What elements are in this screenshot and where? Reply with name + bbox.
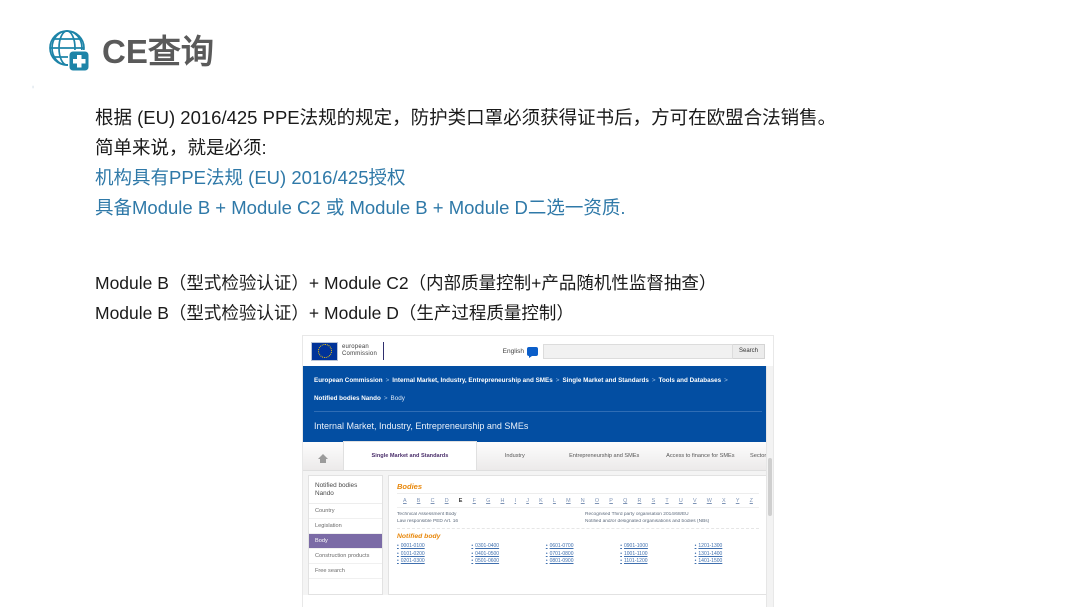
alpha-x[interactable]: X bbox=[722, 498, 726, 504]
alpha-f[interactable]: F bbox=[473, 498, 476, 504]
sidebar-item-construction-products[interactable]: Construction products bbox=[309, 549, 382, 564]
brand-logo: CE查询 bbox=[44, 25, 214, 77]
module-line-2: Module B（型式检验认证）+ Module D（生产过程质量控制） bbox=[95, 298, 1025, 328]
info-row: Technical Assessment Body Law responsibl… bbox=[397, 512, 759, 529]
nb-link[interactable]: 0401-0500 bbox=[471, 551, 535, 559]
alpha-s[interactable]: S bbox=[652, 498, 656, 504]
paragraph-line-2: 简单来说，就是必须: bbox=[95, 133, 1025, 163]
ec-site-header: european Commission English Search bbox=[303, 336, 773, 366]
alpha-c[interactable]: C bbox=[431, 498, 435, 504]
nb-column-2: 0601-0700 0701-0800 0801-0900 bbox=[546, 543, 610, 566]
header-divider bbox=[383, 342, 384, 360]
alphabet-index: A B C D E F G H I J K L M N O P Q R S T bbox=[397, 494, 759, 508]
nb-column-0: 0001-0100 0101-0200 0201-0300 bbox=[397, 543, 461, 566]
embedded-website-screenshot: european Commission English Search Europ… bbox=[303, 336, 773, 607]
alpha-n[interactable]: N bbox=[581, 498, 585, 504]
breadcrumb-item-2[interactable]: Single Market and Standards bbox=[562, 377, 648, 384]
breadcrumb-rule bbox=[314, 411, 762, 412]
tab-industry[interactable]: Industry bbox=[476, 442, 554, 470]
nb-column-1: 0301-0400 0401-0500 0501-0600 bbox=[471, 543, 535, 566]
nb-link[interactable]: 1001-1100 bbox=[620, 551, 684, 559]
sidebar-item-legislation[interactable]: Legislation bbox=[309, 519, 382, 534]
ec-main-panel: Bodies A B C D E F G H I J K L M N O P Q… bbox=[388, 475, 768, 595]
search-button[interactable]: Search bbox=[733, 344, 765, 359]
globe-cross-icon bbox=[44, 25, 96, 77]
nb-link[interactable]: 0001-0100 bbox=[397, 543, 461, 551]
sidebar-item-body[interactable]: Body bbox=[309, 534, 382, 549]
tab-home[interactable] bbox=[303, 442, 344, 470]
alpha-d[interactable]: D bbox=[445, 498, 449, 504]
nb-link[interactable]: 0901-1000 bbox=[620, 543, 684, 551]
breadcrumb-nando[interactable]: Notified bodies Nando bbox=[314, 395, 381, 402]
alpha-o[interactable]: O bbox=[595, 498, 599, 504]
paragraph-line-1: 根据 (EU) 2016/425 PPE法规的规定，防护类口罩必须获得证书后，方… bbox=[95, 103, 1025, 133]
nb-link[interactable]: 1401-1500 bbox=[695, 558, 759, 566]
alpha-u[interactable]: U bbox=[679, 498, 683, 504]
alpha-l[interactable]: L bbox=[553, 498, 556, 504]
alpha-h[interactable]: H bbox=[500, 498, 504, 504]
nb-link[interactable]: 1201-1300 bbox=[695, 543, 759, 551]
page-scrollbar[interactable] bbox=[766, 366, 773, 607]
nb-column-3: 0901-1000 1001-1100 1101-1200 bbox=[620, 543, 684, 566]
alpha-p[interactable]: P bbox=[609, 498, 613, 504]
ec-sidebar: Notified bodies Nando Country Legislatio… bbox=[308, 475, 383, 595]
info-col-right: Recognised Third party organisation 2014… bbox=[585, 512, 759, 525]
section-title-bodies: Bodies bbox=[397, 482, 759, 494]
breadcrumb-item-1[interactable]: Internal Market, Industry, Entrepreneurs… bbox=[392, 377, 553, 384]
ec-content-area: Notified bodies Nando Country Legislatio… bbox=[303, 471, 773, 595]
breadcrumb-second-line: Notified bodies Nando>Body bbox=[314, 393, 762, 404]
language-label[interactable]: English bbox=[503, 348, 524, 355]
tab-access-to-finance-for-smes[interactable]: Access to finance for SMEs bbox=[655, 442, 746, 470]
module-combination-list: Module B（型式检验认证）+ Module C2（内部质量控制+产品随机性… bbox=[95, 268, 1025, 328]
info-left-line-2[interactable]: Law responsible PED Art. 16 bbox=[397, 519, 571, 526]
alpha-g[interactable]: G bbox=[486, 498, 490, 504]
paragraph-line-3: 机构具有PPE法规 (EU) 2016/425授权 bbox=[95, 163, 1025, 193]
eu-flag-icon bbox=[311, 342, 338, 361]
sidebar-item-free-search[interactable]: Free search bbox=[309, 564, 382, 579]
brand-name: CE查询 bbox=[102, 35, 214, 68]
breadcrumb-item-3[interactable]: Tools and Databases bbox=[659, 377, 722, 384]
sidebar-item-country[interactable]: Country bbox=[309, 504, 382, 519]
breadcrumb-body[interactable]: Body bbox=[391, 395, 405, 402]
nb-link[interactable]: 0601-0700 bbox=[546, 543, 610, 551]
nb-link[interactable]: 0101-0200 bbox=[397, 551, 461, 559]
alpha-k[interactable]: K bbox=[539, 498, 543, 504]
nb-link[interactable]: 0701-0800 bbox=[546, 551, 610, 559]
section-title-notified-body: Notified body bbox=[397, 533, 759, 540]
notified-body-columns: 0001-0100 0101-0200 0201-0300 0301-0400 … bbox=[397, 543, 759, 566]
nb-column-4: 1201-1300 1301-1400 1401-1500 bbox=[695, 543, 759, 566]
module-line-1: Module B（型式检验认证）+ Module C2（内部质量控制+产品随机性… bbox=[95, 268, 1025, 298]
ec-wordmark: european Commission bbox=[342, 344, 377, 359]
tab-single-market-and-standards[interactable]: Single Market and Standards bbox=[344, 442, 476, 470]
alpha-i[interactable]: I bbox=[515, 498, 517, 504]
alpha-t[interactable]: T bbox=[665, 498, 668, 504]
tab-entrepreneurship-and-smes[interactable]: Entrepreneurship and SMEs bbox=[554, 442, 655, 470]
alpha-r[interactable]: R bbox=[637, 498, 641, 504]
nb-link[interactable]: 0801-0900 bbox=[546, 558, 610, 566]
hexagon-decoration bbox=[0, 62, 34, 112]
alpha-b[interactable]: B bbox=[417, 498, 421, 504]
info-col-left: Technical Assessment Body Law responsibl… bbox=[397, 512, 571, 525]
search-input[interactable] bbox=[543, 344, 733, 359]
nb-link[interactable]: 0301-0400 bbox=[471, 543, 535, 551]
alpha-z[interactable]: Z bbox=[750, 498, 753, 504]
nb-link[interactable]: 0201-0300 bbox=[397, 558, 461, 566]
breadcrumb: European Commission>Internal Market, Ind… bbox=[314, 375, 762, 386]
breadcrumb-item-0[interactable]: European Commission bbox=[314, 377, 383, 384]
ec-tab-bar: Single Market and Standards Industry Ent… bbox=[303, 442, 773, 471]
sidebar-heading: Notified bodies Nando bbox=[309, 476, 382, 504]
alpha-a[interactable]: A bbox=[403, 498, 407, 504]
ec-wordmark-line1: european bbox=[342, 344, 369, 350]
info-right-line-2[interactable]: Notified and/or designated organisations… bbox=[585, 519, 759, 526]
site-title: Internal Market, Industry, Entrepreneurs… bbox=[314, 421, 762, 431]
slide-body-text: 根据 (EU) 2016/425 PPE法规的规定，防护类口罩必须获得证书后，方… bbox=[95, 103, 1025, 223]
scrollbar-thumb[interactable] bbox=[768, 458, 772, 516]
nb-link[interactable]: 1101-1200 bbox=[620, 558, 684, 566]
nb-link[interactable]: 0501-0600 bbox=[471, 558, 535, 566]
alpha-m[interactable]: M bbox=[566, 498, 571, 504]
alpha-j[interactable]: J bbox=[526, 498, 529, 504]
nb-link[interactable]: 1301-1400 bbox=[695, 551, 759, 559]
paragraph-line-4: 具备Module B + Module C2 或 Module B + Modu… bbox=[95, 193, 1025, 223]
alpha-v[interactable]: V bbox=[693, 498, 697, 504]
alpha-w[interactable]: W bbox=[707, 498, 712, 504]
alpha-y[interactable]: Y bbox=[736, 498, 740, 504]
home-icon bbox=[318, 454, 328, 459]
alpha-q[interactable]: Q bbox=[623, 498, 627, 504]
ec-breadcrumb-banner: European Commission>Internal Market, Ind… bbox=[303, 366, 773, 442]
speech-bubble-icon[interactable] bbox=[527, 347, 538, 356]
ec-wordmark-line2: Commission bbox=[342, 351, 377, 357]
alpha-e[interactable]: E bbox=[459, 498, 463, 504]
